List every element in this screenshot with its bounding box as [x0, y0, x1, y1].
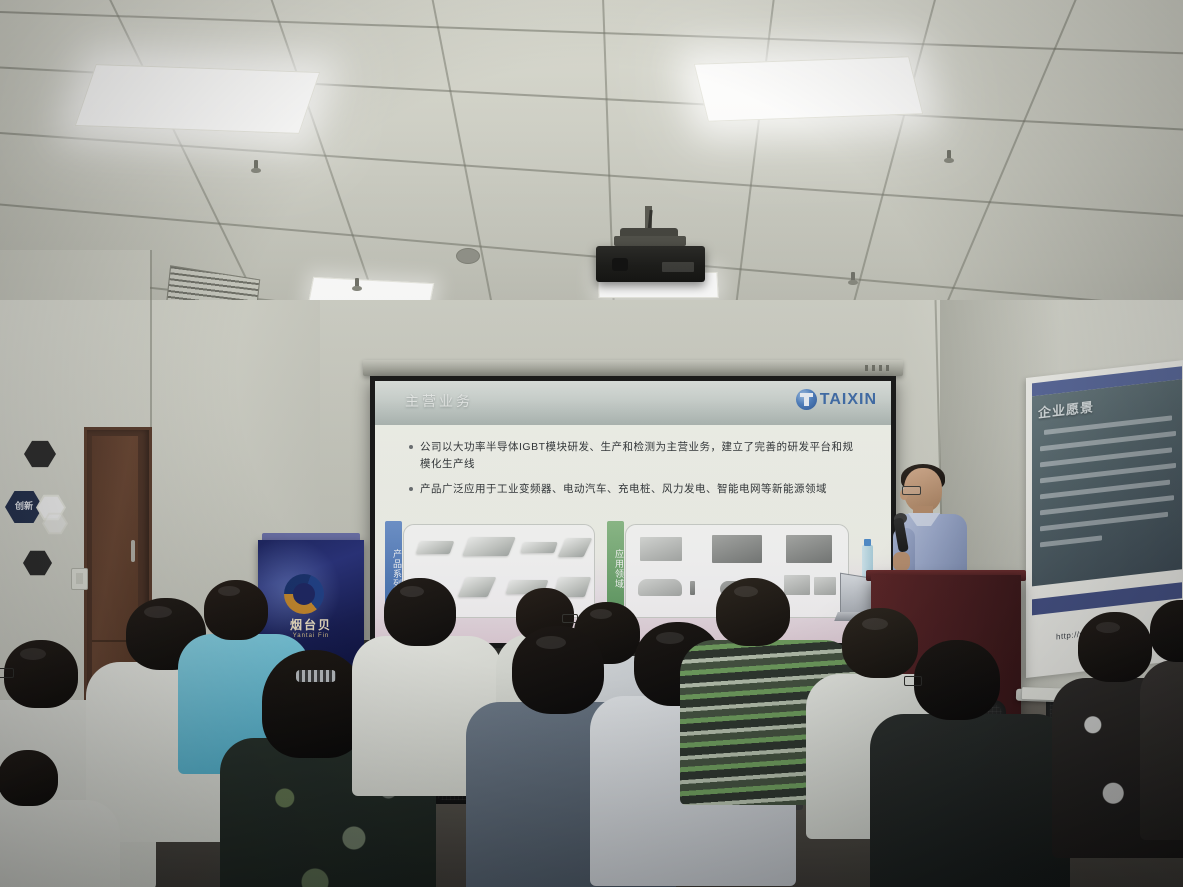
sprinkler-icon: [848, 272, 858, 286]
bullet-dot-icon: [409, 445, 413, 449]
slide-title: 主营业务: [405, 391, 473, 411]
light-switch[interactable]: [71, 568, 88, 590]
conference-room-photo: 创新 主营业务 TAIXIN 公司以大功率半导体IGBT模块研发、生产和检测为主…: [0, 0, 1183, 887]
presenter-hand: [893, 552, 910, 571]
bullet-dot-icon: [409, 487, 413, 491]
slide-bullet: 产品广泛应用于工业变频器、电动汽车、充电桩、风力发电、智能电网等新能源领域: [409, 481, 869, 498]
taixin-logo: TAIXIN: [796, 389, 877, 410]
slide-bullet-text: 公司以大功率半导体IGBT模块研发、生产和检测为主营业务，建立了完善的研发平台和…: [420, 439, 859, 474]
door-handle[interactable]: [131, 540, 135, 562]
taixin-wordmark: TAIXIN: [820, 391, 877, 409]
slide-bullet: 公司以大功率半导体IGBT模块研发、生产和检测为主营业务，建立了完善的研发平台和…: [409, 439, 859, 474]
taixin-logo-mark-icon: [796, 389, 817, 410]
sprinkler-icon: [352, 278, 362, 292]
projector-lens-icon: [612, 258, 628, 271]
projector-plate: [614, 236, 686, 246]
ceiling-light-panel: [75, 64, 321, 134]
slide-bullet-text: 产品广泛应用于工业变频器、电动汽车、充电桩、风力发电、智能电网等新能源领域: [420, 481, 827, 498]
yantai-logo-icon: [284, 574, 324, 614]
sprinkler-icon: [944, 150, 954, 164]
screen-roller-housing: [363, 360, 903, 376]
hvac-vent: [456, 248, 480, 264]
hair-clip: [296, 670, 336, 682]
ceiling-light-panel: [694, 56, 924, 122]
banner-cn-text: 烟台贝: [272, 616, 350, 633]
projector-label: [662, 262, 694, 272]
wall-decal-label: 创新: [15, 502, 33, 511]
glasses-icon: [904, 676, 922, 686]
glasses-icon: [0, 668, 14, 678]
glasses-icon: [902, 486, 921, 495]
sprinkler-icon: [251, 160, 261, 174]
